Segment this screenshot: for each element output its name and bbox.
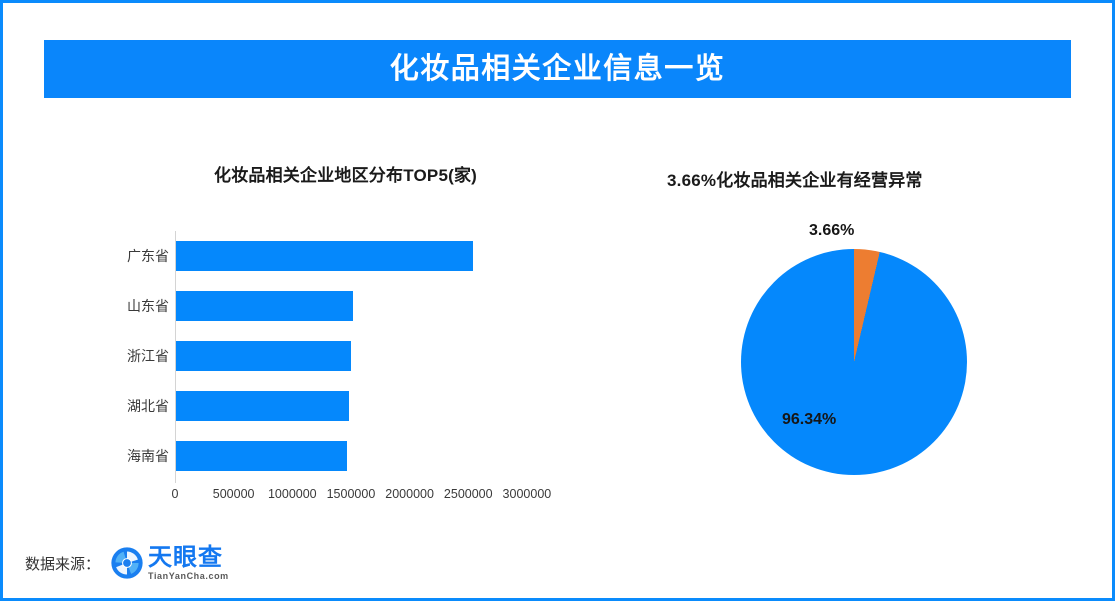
footer: 数据来源： 天眼查 TianYanCha.com (25, 543, 229, 583)
bar-category-label: 湖北省 (99, 391, 169, 421)
bar-plot-area: 广东省山东省浙江省湖北省海南省 (175, 231, 576, 483)
bar-segment (176, 441, 347, 471)
bar-row (176, 291, 353, 321)
bar-category-label: 海南省 (99, 441, 169, 471)
bar-category-label: 浙江省 (99, 341, 169, 371)
bar-row (176, 341, 351, 371)
bar-category-label: 广东省 (99, 241, 169, 271)
x-axis-tick-label: 1500000 (327, 487, 376, 501)
x-axis-tick-label: 0 (172, 487, 179, 501)
bar-row (176, 441, 347, 471)
x-axis-tick-label: 1000000 (268, 487, 317, 501)
pie-graphic (741, 249, 967, 475)
pie-slice-label-normal: 96.34% (782, 411, 836, 429)
bar-category-label: 山东省 (99, 291, 169, 321)
logo-text-en: TianYanCha.com (148, 572, 229, 581)
tianyancha-logo: 天眼查 TianYanCha.com (110, 546, 229, 581)
logo-text-cn: 天眼查 (148, 546, 229, 570)
page-title: 化妆品相关企业信息一览 (390, 55, 726, 84)
x-axis-ticks: 0500000100000015000002000000250000030000… (175, 487, 575, 509)
bar-segment (176, 291, 353, 321)
bar-segment (176, 241, 473, 271)
bar-segment (176, 391, 349, 421)
x-axis-tick-label: 500000 (213, 487, 255, 501)
title-banner: 化妆品相关企业信息一览 (44, 40, 1071, 98)
bar-segment (176, 341, 351, 371)
bar-chart-title: 化妆品相关企业地区分布TOP5(家) (214, 161, 477, 186)
pie-chart (741, 249, 967, 475)
pie-slice-label-abnormal: 3.66% (809, 222, 854, 240)
x-axis-tick-label: 2500000 (444, 487, 493, 501)
x-axis-tick-label: 3000000 (503, 487, 552, 501)
aperture-eye-icon (110, 546, 144, 580)
logo-wordmark: 天眼查 TianYanCha.com (148, 546, 229, 581)
bar-chart: 广东省山东省浙江省湖北省海南省 050000010000001500000200… (98, 231, 578, 516)
x-axis-tick-label: 2000000 (385, 487, 434, 501)
pie-chart-title: 3.66%化妆品相关企业有经营异常 (667, 166, 923, 191)
infographic-page: 化妆品相关企业信息一览 化妆品相关企业地区分布TOP5(家) 广东省山东省浙江省… (0, 0, 1115, 601)
data-source-label: 数据来源： (25, 553, 100, 574)
bar-row (176, 391, 349, 421)
bar-row (176, 241, 473, 271)
